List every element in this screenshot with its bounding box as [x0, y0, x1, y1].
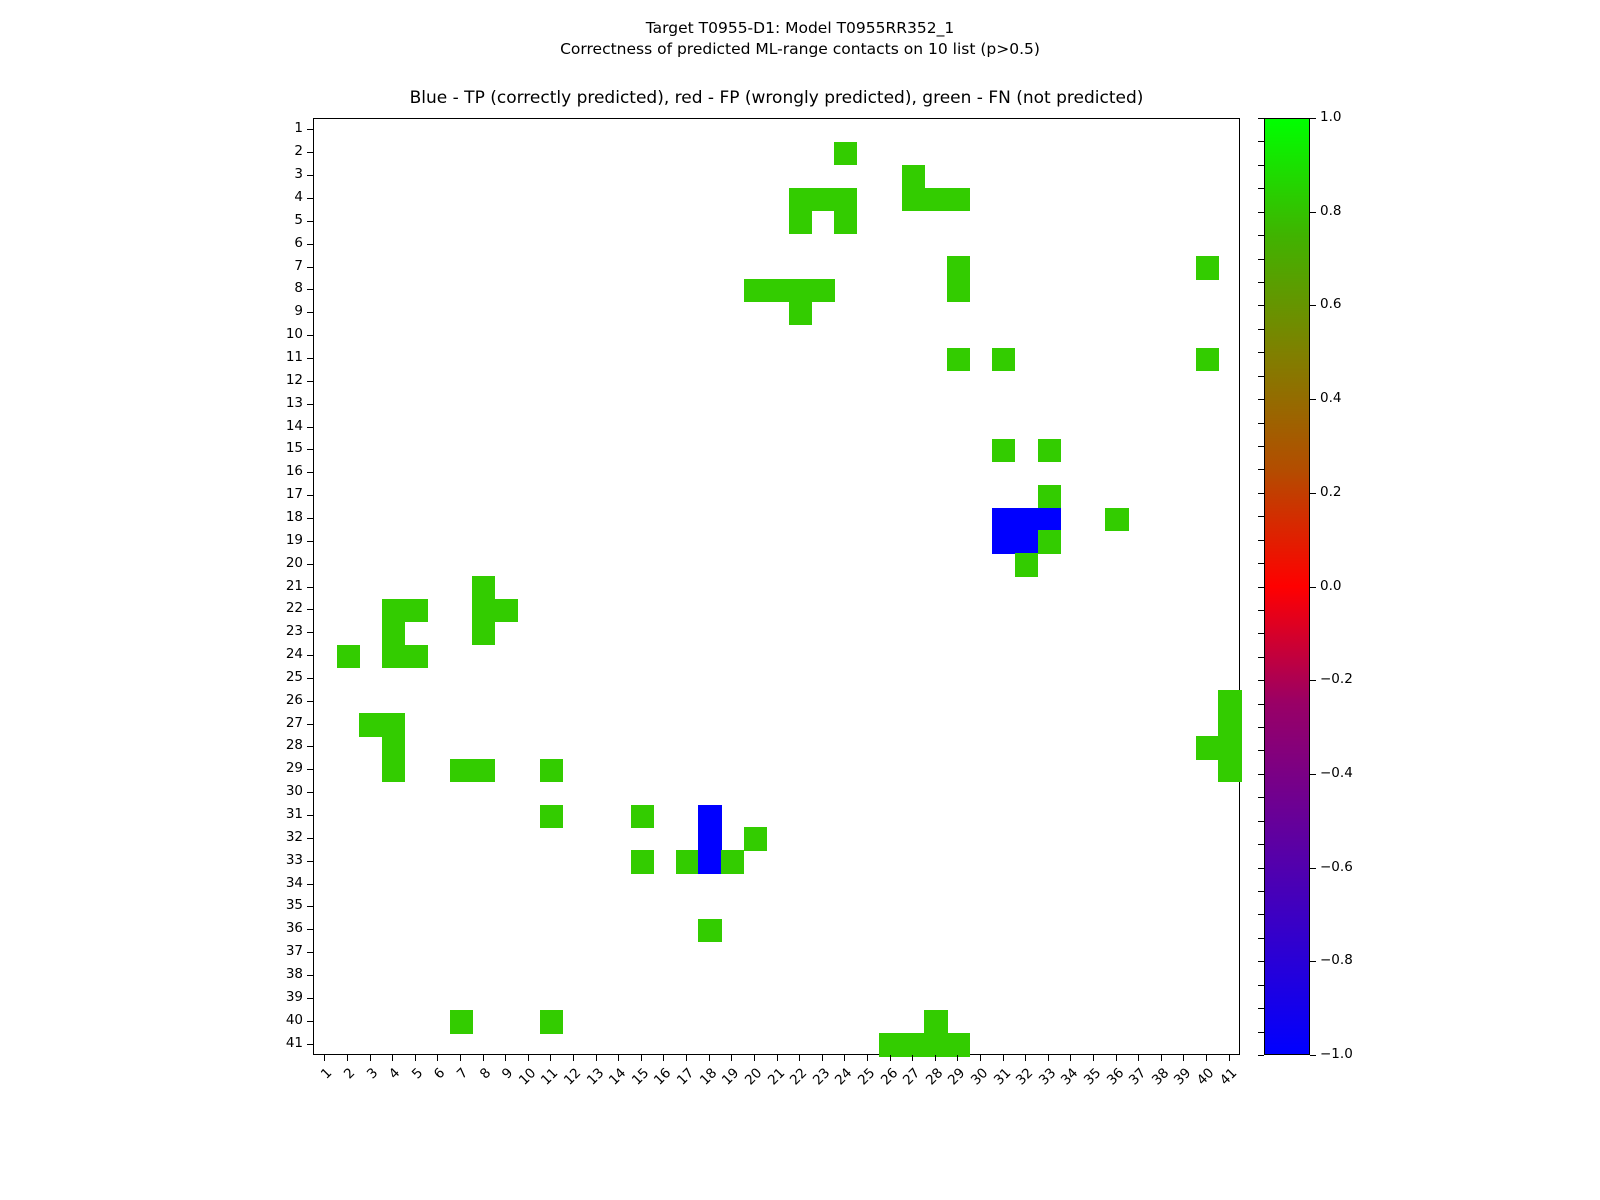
x-axis-tick — [844, 1055, 845, 1061]
heatmap-cell — [382, 713, 405, 736]
colorbar-minor-tick — [1258, 657, 1264, 658]
y-axis-tick — [307, 495, 313, 496]
y-axis-tick-label: 19 — [267, 532, 303, 548]
x-axis-tick — [641, 1055, 642, 1061]
y-axis-tick — [307, 724, 313, 725]
x-axis-tick — [663, 1055, 664, 1061]
colorbar-minor-tick — [1258, 399, 1264, 400]
heatmap-cell — [698, 827, 721, 850]
y-axis-tick — [307, 975, 313, 976]
heatmap-cell — [947, 188, 970, 211]
x-axis-tick — [618, 1055, 619, 1061]
colorbar-tick — [1310, 774, 1316, 775]
heatmap-plot-area — [313, 118, 1240, 1055]
heatmap-cell — [404, 645, 427, 668]
x-axis-tick — [1116, 1055, 1117, 1061]
colorbar-minor-tick — [1258, 563, 1264, 564]
heatmap-cell — [472, 576, 495, 599]
heatmap-cell — [834, 142, 857, 165]
y-axis-tick — [307, 861, 313, 862]
y-axis-tick — [307, 381, 313, 382]
heatmap-cell — [698, 805, 721, 828]
colorbar-tick-label: 0.8 — [1320, 203, 1341, 219]
y-axis-tick-label: 9 — [267, 303, 303, 319]
y-axis-tick — [307, 906, 313, 907]
y-axis-tick-label: 16 — [267, 463, 303, 479]
heatmap-cell — [766, 279, 789, 302]
heatmap-cell — [495, 599, 518, 622]
x-axis-tick — [392, 1055, 393, 1061]
figure-title-line2: Correctness of predicted ML-range contac… — [0, 39, 1600, 60]
y-axis-tick-label: 11 — [267, 349, 303, 365]
colorbar-tick — [1310, 868, 1316, 869]
heatmap-cell — [359, 713, 382, 736]
colorbar-minor-tick — [1258, 797, 1264, 798]
x-axis-tick — [324, 1055, 325, 1061]
y-axis-tick — [307, 1021, 313, 1022]
heatmap-cell — [924, 188, 947, 211]
colorbar-minor-tick — [1258, 891, 1264, 892]
colorbar — [1264, 118, 1310, 1055]
y-axis-tick — [307, 175, 313, 176]
y-axis-tick-label: 12 — [267, 372, 303, 388]
y-axis-tick — [307, 1044, 313, 1045]
colorbar-minor-tick — [1258, 141, 1264, 142]
colorbar-minor-tick — [1258, 212, 1264, 213]
y-axis-tick — [307, 564, 313, 565]
colorbar-minor-tick — [1258, 985, 1264, 986]
colorbar-minor-tick — [1258, 165, 1264, 166]
colorbar-minor-tick — [1258, 587, 1264, 588]
colorbar-minor-tick — [1258, 750, 1264, 751]
heatmap-cell — [902, 165, 925, 188]
y-axis-tick-label: 39 — [267, 989, 303, 1005]
colorbar-minor-tick — [1258, 118, 1264, 119]
y-axis-tick — [307, 655, 313, 656]
colorbar-minor-tick — [1258, 774, 1264, 775]
x-axis-tick — [777, 1055, 778, 1061]
y-axis-tick-label: 21 — [267, 578, 303, 594]
y-axis-tick-label: 37 — [267, 943, 303, 959]
colorbar-minor-tick — [1258, 469, 1264, 470]
x-axis-tick — [957, 1055, 958, 1061]
heatmap-cell — [404, 599, 427, 622]
colorbar-minor-tick — [1258, 680, 1264, 681]
y-axis-tick — [307, 998, 313, 999]
colorbar-minor-tick — [1258, 259, 1264, 260]
x-axis-tick — [935, 1055, 936, 1061]
colorbar-minor-tick — [1258, 376, 1264, 377]
y-axis-tick-label: 14 — [267, 418, 303, 434]
heatmap-cell — [1196, 348, 1219, 371]
colorbar-tick-label: −0.8 — [1320, 952, 1353, 968]
y-axis-tick — [307, 541, 313, 542]
x-axis-tick — [754, 1055, 755, 1061]
y-axis-tick-label: 32 — [267, 829, 303, 845]
x-axis-tick — [573, 1055, 574, 1061]
x-axis-tick — [1161, 1055, 1162, 1061]
heatmap-cell — [789, 188, 812, 211]
heatmap-cell — [698, 919, 721, 942]
heatmap-cell — [631, 805, 654, 828]
colorbar-minor-tick — [1258, 493, 1264, 494]
y-axis-tick — [307, 701, 313, 702]
x-axis-tick — [822, 1055, 823, 1061]
heatmap-cell — [744, 827, 767, 850]
colorbar-minor-tick — [1258, 540, 1264, 541]
x-axis-tick — [912, 1055, 913, 1061]
colorbar-tick-label: 0.4 — [1320, 390, 1341, 406]
colorbar-tick-label: −0.4 — [1320, 765, 1353, 781]
y-axis-tick — [307, 404, 313, 405]
y-axis-tick-label: 34 — [267, 875, 303, 891]
x-axis-tick — [1183, 1055, 1184, 1061]
y-axis-tick-label: 18 — [267, 509, 303, 525]
heatmap-cell — [1218, 736, 1241, 759]
x-axis-tick — [596, 1055, 597, 1061]
colorbar-minor-tick — [1258, 914, 1264, 915]
x-axis-tick — [1093, 1055, 1094, 1061]
colorbar-minor-tick — [1258, 868, 1264, 869]
colorbar-minor-tick — [1258, 821, 1264, 822]
colorbar-minor-tick — [1258, 961, 1264, 962]
heatmap-cell — [540, 759, 563, 782]
y-axis-tick — [307, 358, 313, 359]
heatmap-cell — [947, 279, 970, 302]
colorbar-tick — [1310, 1055, 1316, 1056]
heatmap-cell — [631, 850, 654, 873]
heatmap-cell — [744, 279, 767, 302]
heatmap-cell — [1038, 530, 1061, 553]
y-axis-tick — [307, 129, 313, 130]
x-axis-tick — [1048, 1055, 1049, 1061]
x-axis-tick — [980, 1055, 981, 1061]
heatmap-cell — [811, 188, 834, 211]
colorbar-tick-label: 1.0 — [1320, 109, 1341, 125]
colorbar-tick-label: 0.2 — [1320, 484, 1341, 500]
heatmap-cell — [1015, 553, 1038, 576]
x-axis-tick — [1138, 1055, 1139, 1061]
colorbar-tick — [1310, 961, 1316, 962]
colorbar-minor-tick — [1258, 938, 1264, 939]
y-axis-tick-label: 1 — [267, 120, 303, 136]
y-axis-tick-label: 4 — [267, 189, 303, 205]
x-axis-tick — [1206, 1055, 1207, 1061]
y-axis-tick-label: 20 — [267, 555, 303, 571]
heatmap-cell — [1038, 439, 1061, 462]
heatmap-cells — [314, 119, 1239, 1054]
colorbar-minor-tick — [1258, 282, 1264, 283]
heatmap-cell — [992, 439, 1015, 462]
x-axis-tick — [483, 1055, 484, 1061]
heatmap-cell — [1196, 736, 1219, 759]
y-axis-tick-label: 17 — [267, 486, 303, 502]
heatmap-cell — [789, 302, 812, 325]
colorbar-minor-tick — [1258, 423, 1264, 424]
figure-title-line1: Target T0955-D1: Model T0955RR352_1 — [646, 19, 954, 37]
heatmap-cell — [382, 736, 405, 759]
colorbar-tick — [1310, 399, 1316, 400]
y-axis-tick — [307, 587, 313, 588]
x-axis-tick — [415, 1055, 416, 1061]
y-axis-tick — [307, 632, 313, 633]
x-axis-tick — [731, 1055, 732, 1061]
y-axis-tick-label: 3 — [267, 166, 303, 182]
y-axis-tick-label: 27 — [267, 715, 303, 731]
colorbar-minor-tick — [1258, 329, 1264, 330]
heatmap-cell — [992, 508, 1015, 531]
y-axis-tick-label: 30 — [267, 783, 303, 799]
y-axis-tick — [307, 929, 313, 930]
x-axis-tick — [686, 1055, 687, 1061]
colorbar-minor-tick — [1258, 305, 1264, 306]
colorbar-tick-label: 0.0 — [1320, 578, 1341, 594]
y-axis-tick — [307, 518, 313, 519]
heatmap-cell — [1218, 713, 1241, 736]
heatmap-cell — [902, 188, 925, 211]
heatmap-cell — [698, 850, 721, 873]
y-axis-tick-label: 36 — [267, 920, 303, 936]
colorbar-minor-tick — [1258, 727, 1264, 728]
y-axis-tick-label: 15 — [267, 440, 303, 456]
x-axis-tick — [1025, 1055, 1026, 1061]
x-axis-tick — [370, 1055, 371, 1061]
colorbar-minor-tick — [1258, 516, 1264, 517]
colorbar-minor-tick — [1258, 633, 1264, 634]
x-axis-tick — [799, 1055, 800, 1061]
y-axis-tick — [307, 792, 313, 793]
heatmap-cell — [472, 759, 495, 782]
y-axis-tick — [307, 335, 313, 336]
heatmap-cell — [1218, 690, 1241, 713]
x-axis-tick — [867, 1055, 868, 1061]
heatmap-cell — [676, 850, 699, 873]
heatmap-cell — [902, 1033, 925, 1056]
x-axis-tick — [1070, 1055, 1071, 1061]
heatmap-cell — [834, 188, 857, 211]
heatmap-cell — [1196, 256, 1219, 279]
y-axis-tick — [307, 609, 313, 610]
x-axis-tick — [1003, 1055, 1004, 1061]
colorbar-tick — [1310, 212, 1316, 213]
heatmap-cell — [924, 1033, 947, 1056]
y-axis-tick-label: 35 — [267, 897, 303, 913]
y-axis-tick — [307, 198, 313, 199]
heatmap-cell — [382, 645, 405, 668]
colorbar-minor-tick — [1258, 446, 1264, 447]
heatmap-cell — [992, 348, 1015, 371]
heatmap-cell — [382, 622, 405, 645]
heatmap-cell — [1038, 508, 1061, 531]
colorbar-tick — [1310, 680, 1316, 681]
heatmap-cell — [1038, 485, 1061, 508]
y-axis-tick-label: 7 — [267, 258, 303, 274]
colorbar-minor-tick — [1258, 352, 1264, 353]
heatmap-cell — [992, 530, 1015, 553]
y-axis-tick — [307, 449, 313, 450]
y-axis-tick — [307, 152, 313, 153]
y-axis-tick-label: 33 — [267, 852, 303, 868]
y-axis-tick-label: 29 — [267, 760, 303, 776]
heatmap-cell — [947, 256, 970, 279]
y-axis-tick-label: 26 — [267, 692, 303, 708]
y-axis-tick — [307, 427, 313, 428]
heatmap-cell — [540, 1010, 563, 1033]
heatmap-cell — [789, 279, 812, 302]
y-axis-tick — [307, 472, 313, 473]
colorbar-tick — [1310, 493, 1316, 494]
colorbar-minor-tick — [1258, 235, 1264, 236]
y-axis-tick-label: 24 — [267, 646, 303, 662]
colorbar-tick-label: −0.6 — [1320, 859, 1353, 875]
heatmap-cell — [382, 759, 405, 782]
contact-map-figure: Target T0955-D1: Model T0955RR352_1 Corr… — [0, 0, 1600, 1200]
colorbar-minor-tick — [1258, 188, 1264, 189]
heatmap-cell — [879, 1033, 902, 1056]
y-axis-tick — [307, 678, 313, 679]
heatmap-cell — [924, 1010, 947, 1033]
colorbar-minor-tick — [1258, 704, 1264, 705]
y-axis-tick-label: 41 — [267, 1035, 303, 1051]
y-axis-tick-label: 6 — [267, 235, 303, 251]
heatmap-cell — [1015, 530, 1038, 553]
y-axis-tick — [307, 884, 313, 885]
y-axis-tick-label: 8 — [267, 280, 303, 296]
y-axis-tick-label: 31 — [267, 806, 303, 822]
x-axis-tick — [1229, 1055, 1230, 1061]
colorbar-minor-tick — [1258, 1055, 1264, 1056]
heatmap-cell — [947, 348, 970, 371]
heatmap-cell — [1218, 759, 1241, 782]
colorbar-minor-tick — [1258, 1032, 1264, 1033]
y-axis-tick — [307, 838, 313, 839]
y-axis-tick-label: 5 — [267, 212, 303, 228]
heatmap-cell — [540, 805, 563, 828]
heatmap-cell — [472, 599, 495, 622]
y-axis-tick — [307, 267, 313, 268]
colorbar-tick — [1310, 587, 1316, 588]
y-axis-tick-label: 25 — [267, 669, 303, 685]
heatmap-cell — [834, 210, 857, 233]
colorbar-tick-label: −0.2 — [1320, 671, 1353, 687]
x-axis-tick — [460, 1055, 461, 1061]
x-axis-tick — [347, 1055, 348, 1061]
y-axis-tick-label: 40 — [267, 1012, 303, 1028]
heatmap-cell — [337, 645, 360, 668]
heatmap-cell — [1015, 508, 1038, 531]
y-axis-tick — [307, 289, 313, 290]
y-axis-tick-label: 2 — [267, 143, 303, 159]
colorbar-minor-tick — [1258, 610, 1264, 611]
y-axis-tick — [307, 769, 313, 770]
heatmap-cell — [450, 1010, 473, 1033]
colorbar-tick-label: −1.0 — [1320, 1046, 1353, 1062]
colorbar-minor-tick — [1258, 1008, 1264, 1009]
colorbar-minor-tick — [1258, 844, 1264, 845]
y-axis-tick-label: 22 — [267, 600, 303, 616]
y-axis-tick — [307, 312, 313, 313]
y-axis-tick-label: 13 — [267, 395, 303, 411]
y-axis-tick-label: 23 — [267, 623, 303, 639]
heatmap-cell — [947, 1033, 970, 1056]
figure-title: Target T0955-D1: Model T0955RR352_1 Corr… — [0, 18, 1600, 60]
heatmap-cell — [382, 599, 405, 622]
heatmap-cell — [1105, 508, 1128, 531]
y-axis-tick — [307, 815, 313, 816]
x-axis-tick — [437, 1055, 438, 1061]
heatmap-cell — [721, 850, 744, 873]
y-axis-tick — [307, 746, 313, 747]
y-axis-tick — [307, 221, 313, 222]
x-axis-tick — [550, 1055, 551, 1061]
colorbar-tick — [1310, 118, 1316, 119]
y-axis-tick-label: 38 — [267, 966, 303, 982]
heatmap-cell — [811, 279, 834, 302]
heatmap-cell — [789, 210, 812, 233]
y-axis-tick — [307, 244, 313, 245]
y-axis-tick — [307, 952, 313, 953]
x-axis-tick — [505, 1055, 506, 1061]
heatmap-cell — [472, 622, 495, 645]
colorbar-tick — [1310, 305, 1316, 306]
y-axis-tick-label: 10 — [267, 326, 303, 342]
axes-legend-title: Blue - TP (correctly predicted), red - F… — [313, 88, 1240, 108]
y-axis-tick-label: 28 — [267, 737, 303, 753]
x-axis-tick — [528, 1055, 529, 1061]
x-axis-tick — [890, 1055, 891, 1061]
x-axis-tick — [709, 1055, 710, 1061]
colorbar-tick-label: 0.6 — [1320, 296, 1341, 312]
heatmap-cell — [450, 759, 473, 782]
